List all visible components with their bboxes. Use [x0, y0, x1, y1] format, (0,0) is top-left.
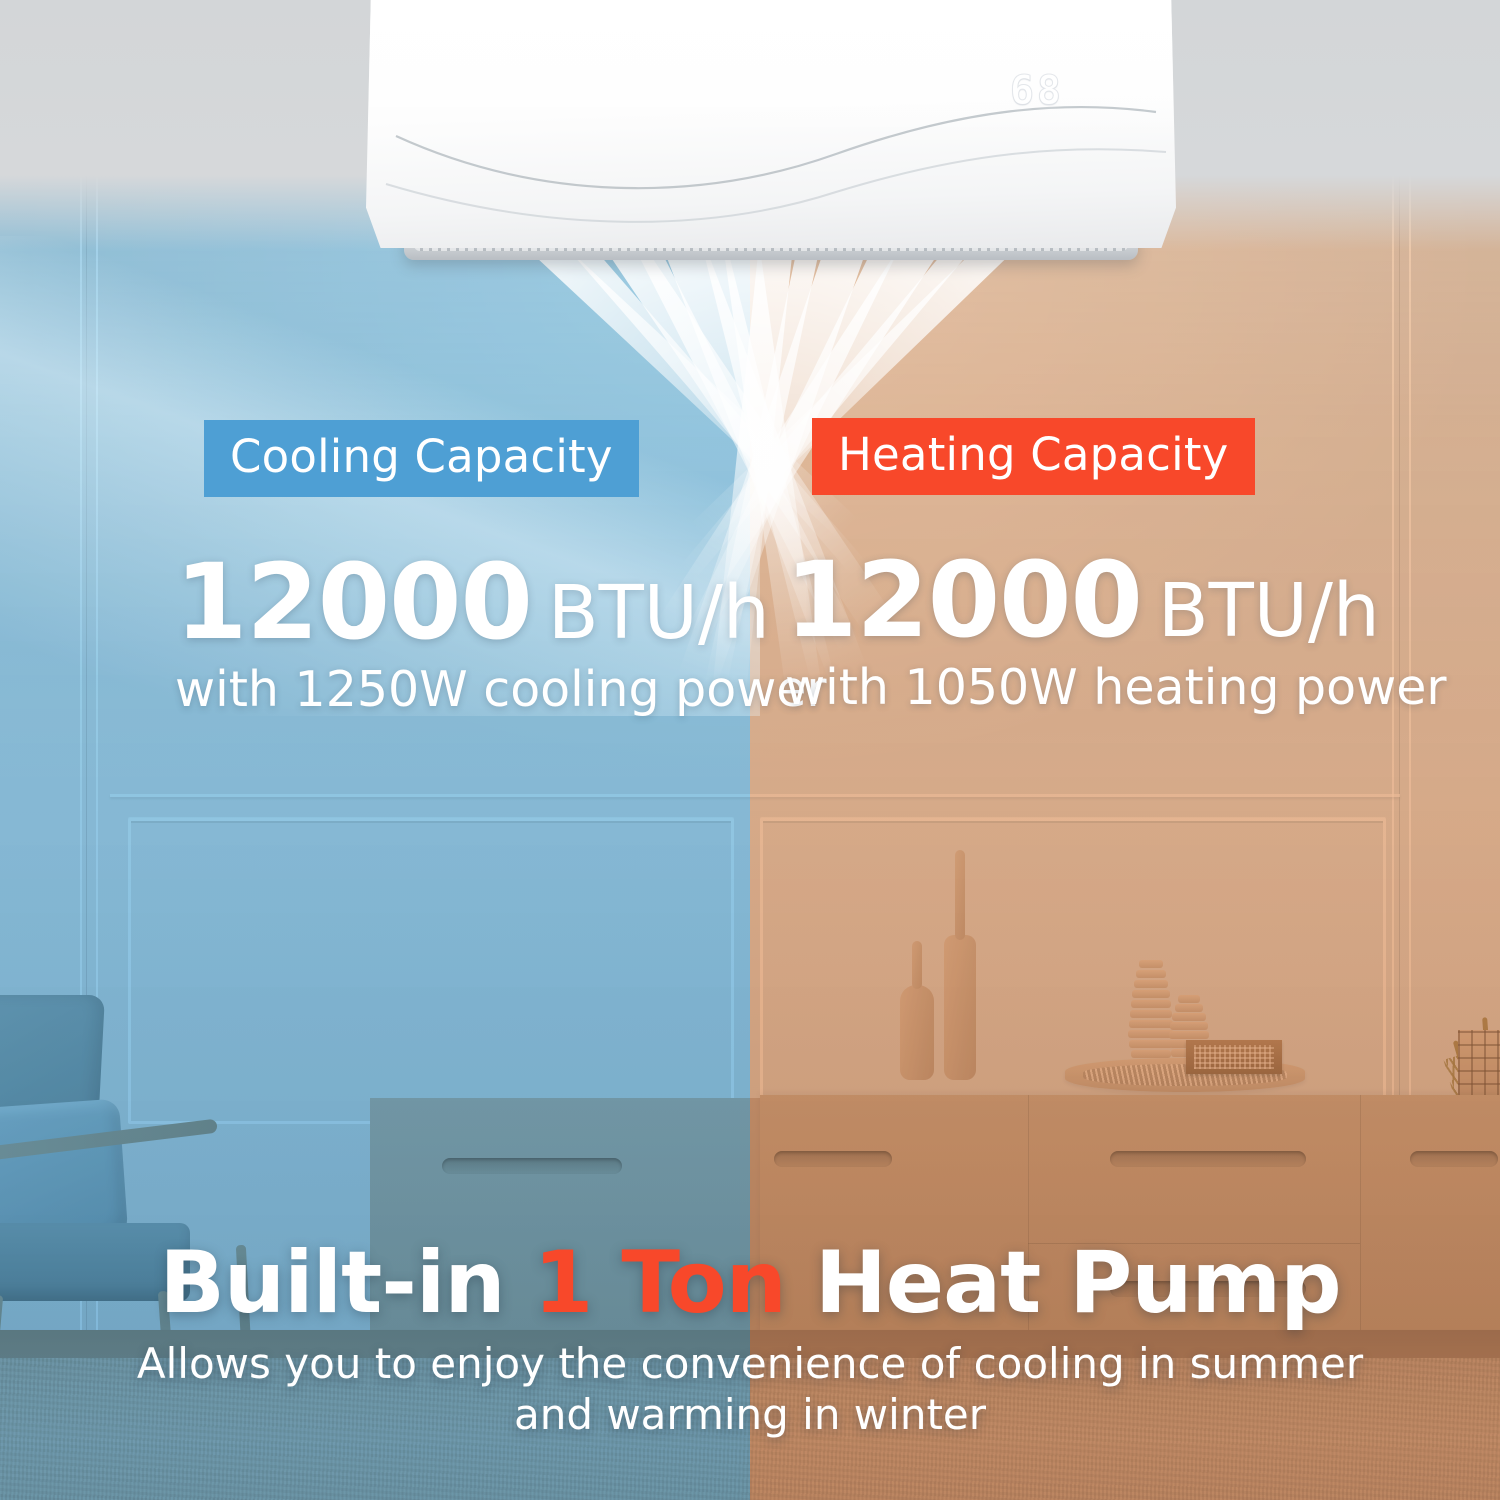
headline-suffix: Heat Pump [786, 1233, 1341, 1333]
cooling-capacity-unit: BTU/h [548, 570, 770, 656]
heating-capacity-stat: 12000BTU/h with 1050W heating power [785, 548, 1447, 713]
decor-vase-small [900, 985, 934, 1080]
ac-display-value: 68 [1010, 71, 1064, 111]
decor-vase-tall [944, 935, 976, 1080]
ac-temperature-display: 68 [1000, 68, 1064, 114]
sideboard-handle [1110, 1151, 1306, 1167]
heating-power-note: with 1050W heating power [785, 662, 1447, 713]
cooling-power-note: with 1250W cooling power [175, 664, 827, 715]
sideboard-handle [774, 1151, 892, 1167]
footer-headline: Built-in 1 Ton Heat Pump [0, 1240, 1500, 1328]
ac-unit-body: 68 [366, 0, 1176, 248]
cabinet-handle [442, 1158, 622, 1174]
subline-line-1: Allows you to enjoy the convenience of c… [137, 1339, 1363, 1388]
headline-prefix: Built-in [159, 1233, 533, 1333]
cooling-capacity-value: 12000 [175, 541, 532, 663]
heating-capacity-unit: BTU/h [1158, 568, 1380, 654]
sideboard-handle [1410, 1151, 1498, 1167]
cooling-capacity-stat: 12000BTU/h with 1250W cooling power [175, 550, 827, 715]
heating-capacity-badge: Heating Capacity [812, 418, 1255, 495]
cooling-capacity-badge: Cooling Capacity [204, 420, 639, 497]
footer-subline: Allows you to enjoy the convenience of c… [0, 1338, 1500, 1440]
air-conditioner-unit: 68 [366, 0, 1176, 248]
subline-line-2: and warming in winter [514, 1390, 986, 1439]
potted-plant [1418, 845, 1500, 1095]
wall-rail [110, 794, 1400, 797]
decor-box [1186, 1040, 1282, 1074]
plant-pot [1458, 1030, 1500, 1098]
heating-capacity-value: 12000 [785, 539, 1142, 661]
product-feature-image: 68 Cooling Capacity Heating Capacity 120… [0, 0, 1500, 1500]
headline-highlight: 1 Ton [534, 1233, 786, 1333]
